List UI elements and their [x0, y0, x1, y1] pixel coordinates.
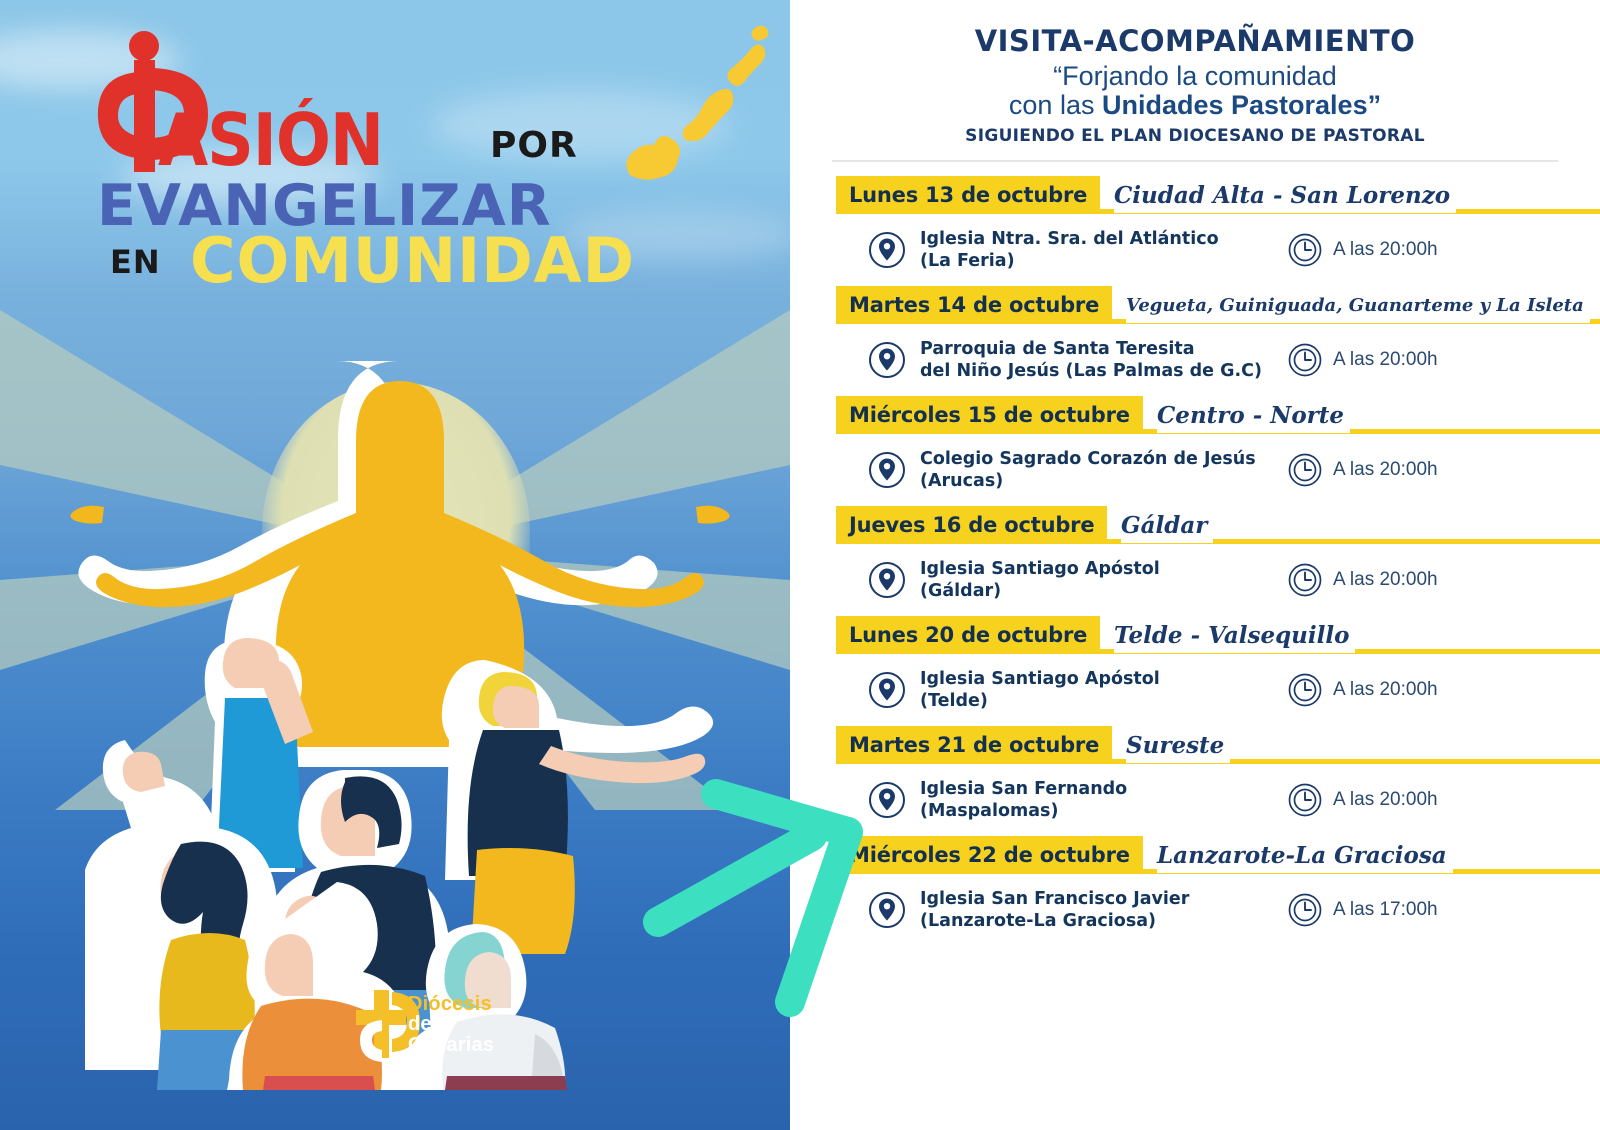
entry-place-text: Iglesia Santiago Apóstol (Gáldar)	[920, 558, 1160, 602]
schedule-panel: VISITA-ACOMPAÑAMIENTO “Forjando la comun…	[790, 0, 1600, 1130]
header-subtitle-emphasis: Unidades Pastorales”	[1102, 90, 1381, 120]
diocese-logo: Diócesis de Canarias	[352, 986, 552, 1066]
entry-time-text: A las 20:00h	[1333, 239, 1438, 261]
entry-place-line1: Iglesia Ntra. Sra. del Atlántico	[920, 228, 1219, 250]
entry-time-text: A las 20:00h	[1333, 349, 1438, 371]
entry-date-row: Miércoles 15 de octubre Centro - Norte	[790, 396, 1600, 434]
entry-detail-row: Colegio Sagrado Corazón de Jesús (Arucas…	[790, 434, 1600, 496]
location-pin-icon	[868, 561, 906, 599]
clock-icon	[1288, 783, 1322, 817]
entry-place: Iglesia San Fernando (Maspalomas)	[868, 778, 1288, 822]
panel-header: VISITA-ACOMPAÑAMIENTO “Forjando la comun…	[790, 0, 1600, 146]
title-line-comunidad: COMUNIDAD	[190, 230, 635, 292]
entry-place-line2: del Niño Jesús (Las Palmas de G.C)	[920, 360, 1262, 382]
entry-place-text: Iglesia San Francisco Javier (Lanzarote-…	[920, 888, 1189, 932]
entry-date-chip: Miércoles 15 de octubre	[836, 396, 1143, 434]
entry-detail-row: Parroquia de Santa Teresita del Niño Jes…	[790, 324, 1600, 386]
entry-place-line1: Iglesia San Francisco Javier	[920, 888, 1189, 910]
entry-zone-label: Centro - Norte	[1157, 397, 1350, 433]
entry-place-text: Iglesia Santiago Apóstol (Telde)	[920, 668, 1160, 712]
schedule-entry[interactable]: Martes 14 de octubre Vegueta, Guiniguada…	[790, 286, 1600, 386]
entry-date-row: Lunes 20 de octubre Telde - Valsequillo	[790, 616, 1600, 654]
entry-place: Iglesia Santiago Apóstol (Gáldar)	[868, 558, 1288, 602]
logo-line-de: de	[408, 1014, 494, 1034]
title-line-pasion: ASIÓN	[158, 104, 383, 176]
entry-place-line2: (Gáldar)	[920, 580, 1160, 602]
entry-place: Iglesia Santiago Apóstol (Telde)	[868, 668, 1288, 712]
entry-time: A las 20:00h	[1288, 673, 1438, 707]
entry-date-chip: Martes 14 de octubre	[836, 286, 1112, 324]
entry-time-text: A las 20:00h	[1333, 569, 1438, 591]
entry-time-text: A las 20:00h	[1333, 679, 1438, 701]
poster-title: ASIÓN POR EVANGELIZAR EN COMUNIDAD	[0, 12, 790, 282]
clock-icon	[1288, 343, 1322, 377]
entry-place-line2: (Maspalomas)	[920, 800, 1127, 822]
entry-place: Iglesia Ntra. Sra. del Atlántico (La Fer…	[868, 228, 1288, 272]
entry-time: A las 20:00h	[1288, 233, 1438, 267]
diocese-logo-text: Diócesis de Canarias	[408, 994, 494, 1055]
entry-detail-row: Iglesia Santiago Apóstol (Gáldar) A las …	[790, 544, 1600, 606]
title-line-por: POR	[490, 128, 578, 164]
entry-date-row: Jueves 16 de octubre Gáldar	[790, 506, 1600, 544]
entry-detail-row: Iglesia Ntra. Sra. del Atlántico (La Fer…	[790, 214, 1600, 276]
entry-place-line1: Iglesia San Fernando	[920, 778, 1127, 800]
entry-zone-label: Ciudad Alta - San Lorenzo	[1114, 177, 1456, 213]
entry-time-text: A las 20:00h	[1333, 789, 1438, 811]
handdrawn-arrow-annotation	[600, 740, 900, 1040]
schedule-entry[interactable]: Martes 21 de octubre Sureste Iglesia San…	[790, 726, 1600, 826]
entry-place-line1: Colegio Sagrado Corazón de Jesús	[920, 448, 1256, 470]
entry-time: A las 20:00h	[1288, 563, 1438, 597]
location-pin-icon	[868, 451, 906, 489]
entry-time: A las 20:00h	[1288, 783, 1438, 817]
entry-date-chip: Lunes 20 de octubre	[836, 616, 1100, 654]
schedule-list: Lunes 13 de octubre Ciudad Alta - San Lo…	[790, 176, 1600, 936]
header-divider	[832, 160, 1558, 162]
entry-time-text: A las 17:00h	[1333, 899, 1438, 921]
header-tagline: SIGUIENDO EL PLAN DIOCESANO DE PASTORAL	[800, 126, 1590, 146]
entry-time: A las 20:00h	[1288, 343, 1438, 377]
clock-icon	[1288, 893, 1322, 927]
schedule-entry[interactable]: Jueves 16 de octubre Gáldar Iglesia Sant…	[790, 506, 1600, 606]
entry-place-line1: Iglesia Santiago Apóstol	[920, 558, 1160, 580]
entry-zone-label: Gáldar	[1121, 507, 1213, 543]
schedule-entry[interactable]: Lunes 20 de octubre Telde - Valsequillo …	[790, 616, 1600, 716]
entry-place-line1: Parroquia de Santa Teresita	[920, 338, 1262, 360]
header-subtitle-line1: “Forjando la comunidad	[800, 62, 1590, 91]
entry-place-text: Iglesia San Fernando (Maspalomas)	[920, 778, 1127, 822]
entry-time: A las 17:00h	[1288, 893, 1438, 927]
entry-zone-label: Lanzarote-La Graciosa	[1157, 837, 1453, 873]
location-pin-icon	[868, 671, 906, 709]
entry-date-row: Miércoles 22 de octubre Lanzarote-La Gra…	[790, 836, 1600, 874]
poster-schedule-page: ASIÓN POR EVANGELIZAR EN COMUNIDAD Dióce…	[0, 0, 1600, 1130]
entry-zone-label: Telde - Valsequillo	[1114, 617, 1355, 653]
entry-time-text: A las 20:00h	[1333, 459, 1438, 481]
entry-place-line1: Iglesia Santiago Apóstol	[920, 668, 1160, 690]
schedule-entry[interactable]: Miércoles 15 de octubre Centro - Norte C…	[790, 396, 1600, 496]
logo-line-diocesis: Diócesis	[408, 994, 494, 1014]
logo-line-canarias: Canarias	[408, 1035, 494, 1055]
schedule-entry[interactable]: Miércoles 22 de octubre Lanzarote-La Gra…	[790, 836, 1600, 936]
entry-place-text: Parroquia de Santa Teresita del Niño Jes…	[920, 338, 1262, 382]
entry-place-line2: (La Feria)	[920, 250, 1219, 272]
entry-date-row: Martes 14 de octubre Vegueta, Guiniguada…	[790, 286, 1600, 324]
entry-place: Parroquia de Santa Teresita del Niño Jes…	[868, 338, 1288, 382]
entry-place: Iglesia San Francisco Javier (Lanzarote-…	[868, 888, 1288, 932]
clock-icon	[1288, 673, 1322, 707]
entry-place-line2: (Arucas)	[920, 470, 1256, 492]
entry-place-text: Colegio Sagrado Corazón de Jesús (Arucas…	[920, 448, 1256, 492]
location-pin-icon	[868, 231, 906, 269]
header-subtitle-line2: con las Unidades Pastorales”	[800, 91, 1590, 120]
entry-place-line2: (Telde)	[920, 690, 1160, 712]
schedule-entry[interactable]: Lunes 13 de octubre Ciudad Alta - San Lo…	[790, 176, 1600, 276]
clock-icon	[1288, 563, 1322, 597]
entry-date-chip: Jueves 16 de octubre	[836, 506, 1107, 544]
entry-time: A las 20:00h	[1288, 453, 1438, 487]
title-line-en: EN	[110, 246, 161, 278]
header-subtitle-prefix: con las	[1009, 90, 1102, 120]
entry-date-row: Lunes 13 de octubre Ciudad Alta - San Lo…	[790, 176, 1600, 214]
clock-icon	[1288, 453, 1322, 487]
location-pin-icon	[868, 341, 906, 379]
entry-place-line2: (Lanzarote-La Graciosa)	[920, 910, 1189, 932]
entry-detail-row: Iglesia Santiago Apóstol (Telde) A las 2…	[790, 654, 1600, 716]
entry-date-chip: Lunes 13 de octubre	[836, 176, 1100, 214]
entry-detail-row: Iglesia San Francisco Javier (Lanzarote-…	[790, 874, 1600, 936]
entry-date-row: Martes 21 de octubre Sureste	[790, 726, 1600, 764]
clock-icon	[1288, 233, 1322, 267]
entry-place-text: Iglesia Ntra. Sra. del Atlántico (La Fer…	[920, 228, 1219, 272]
entry-zone-label: Vegueta, Guiniguada, Guanarteme y La Isl…	[1126, 287, 1590, 323]
header-title: VISITA-ACOMPAÑAMIENTO	[800, 24, 1590, 58]
entry-zone-label: Sureste	[1126, 727, 1230, 763]
entry-place: Colegio Sagrado Corazón de Jesús (Arucas…	[868, 448, 1288, 492]
entry-detail-row: Iglesia San Fernando (Maspalomas) A las …	[790, 764, 1600, 826]
